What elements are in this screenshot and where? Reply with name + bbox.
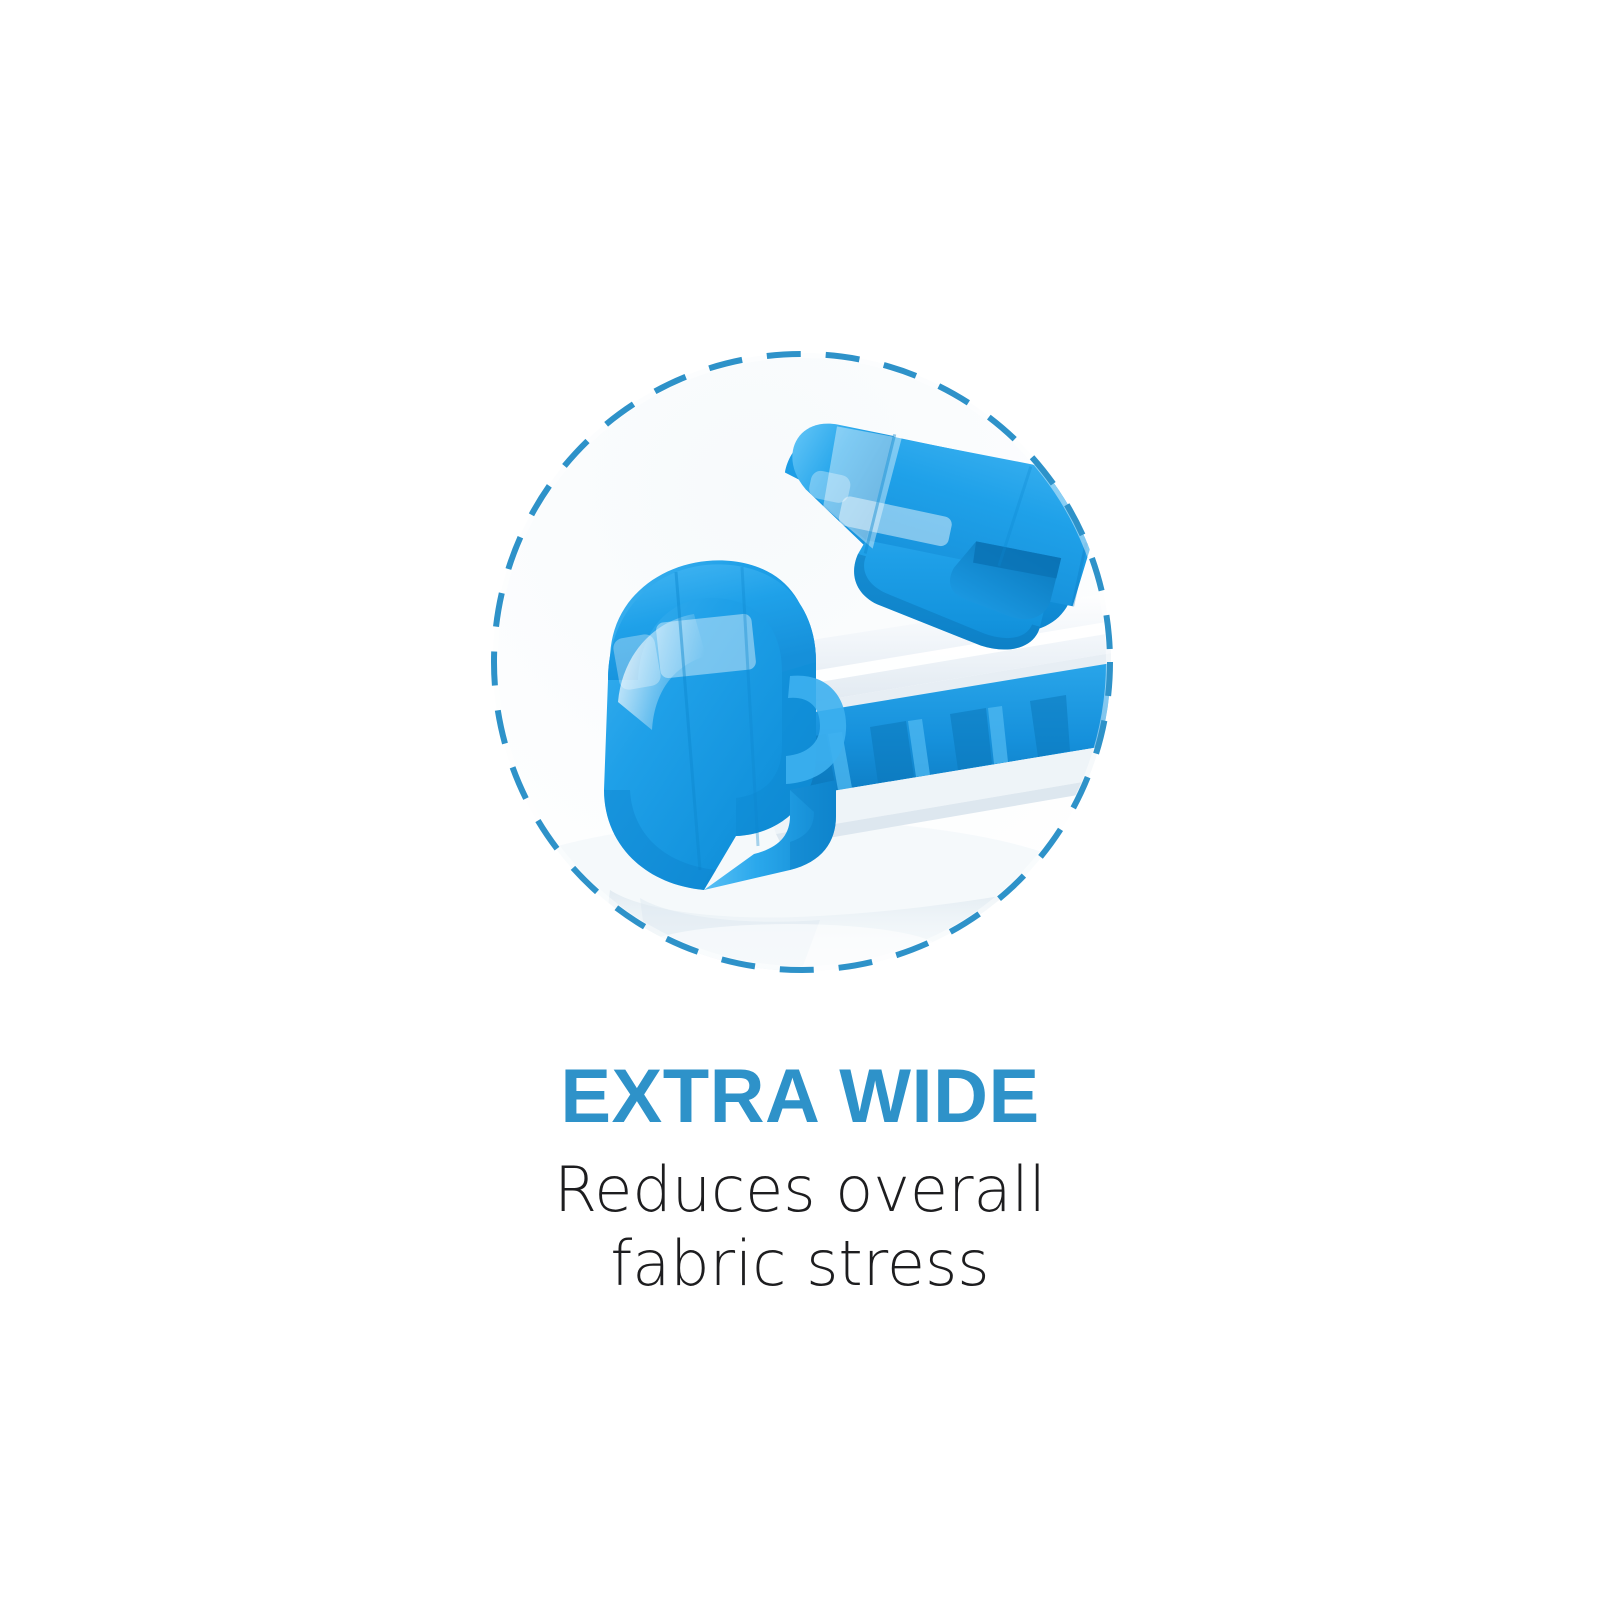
- feature-title: EXTRA WIDE: [0, 1055, 1600, 1139]
- product-callout-circle: [490, 350, 1114, 974]
- feature-subtitle-line-2: fabric stress: [0, 1227, 1600, 1301]
- caption-block: EXTRA WIDE Reduces overall fabric stress: [0, 1055, 1600, 1301]
- feature-subtitle: Reduces overall fabric stress: [0, 1153, 1600, 1301]
- product-illustration: [490, 350, 1114, 974]
- product-feature-card: EXTRA WIDE Reduces overall fabric stress: [0, 0, 1600, 1600]
- feature-subtitle-line-1: Reduces overall: [0, 1153, 1600, 1227]
